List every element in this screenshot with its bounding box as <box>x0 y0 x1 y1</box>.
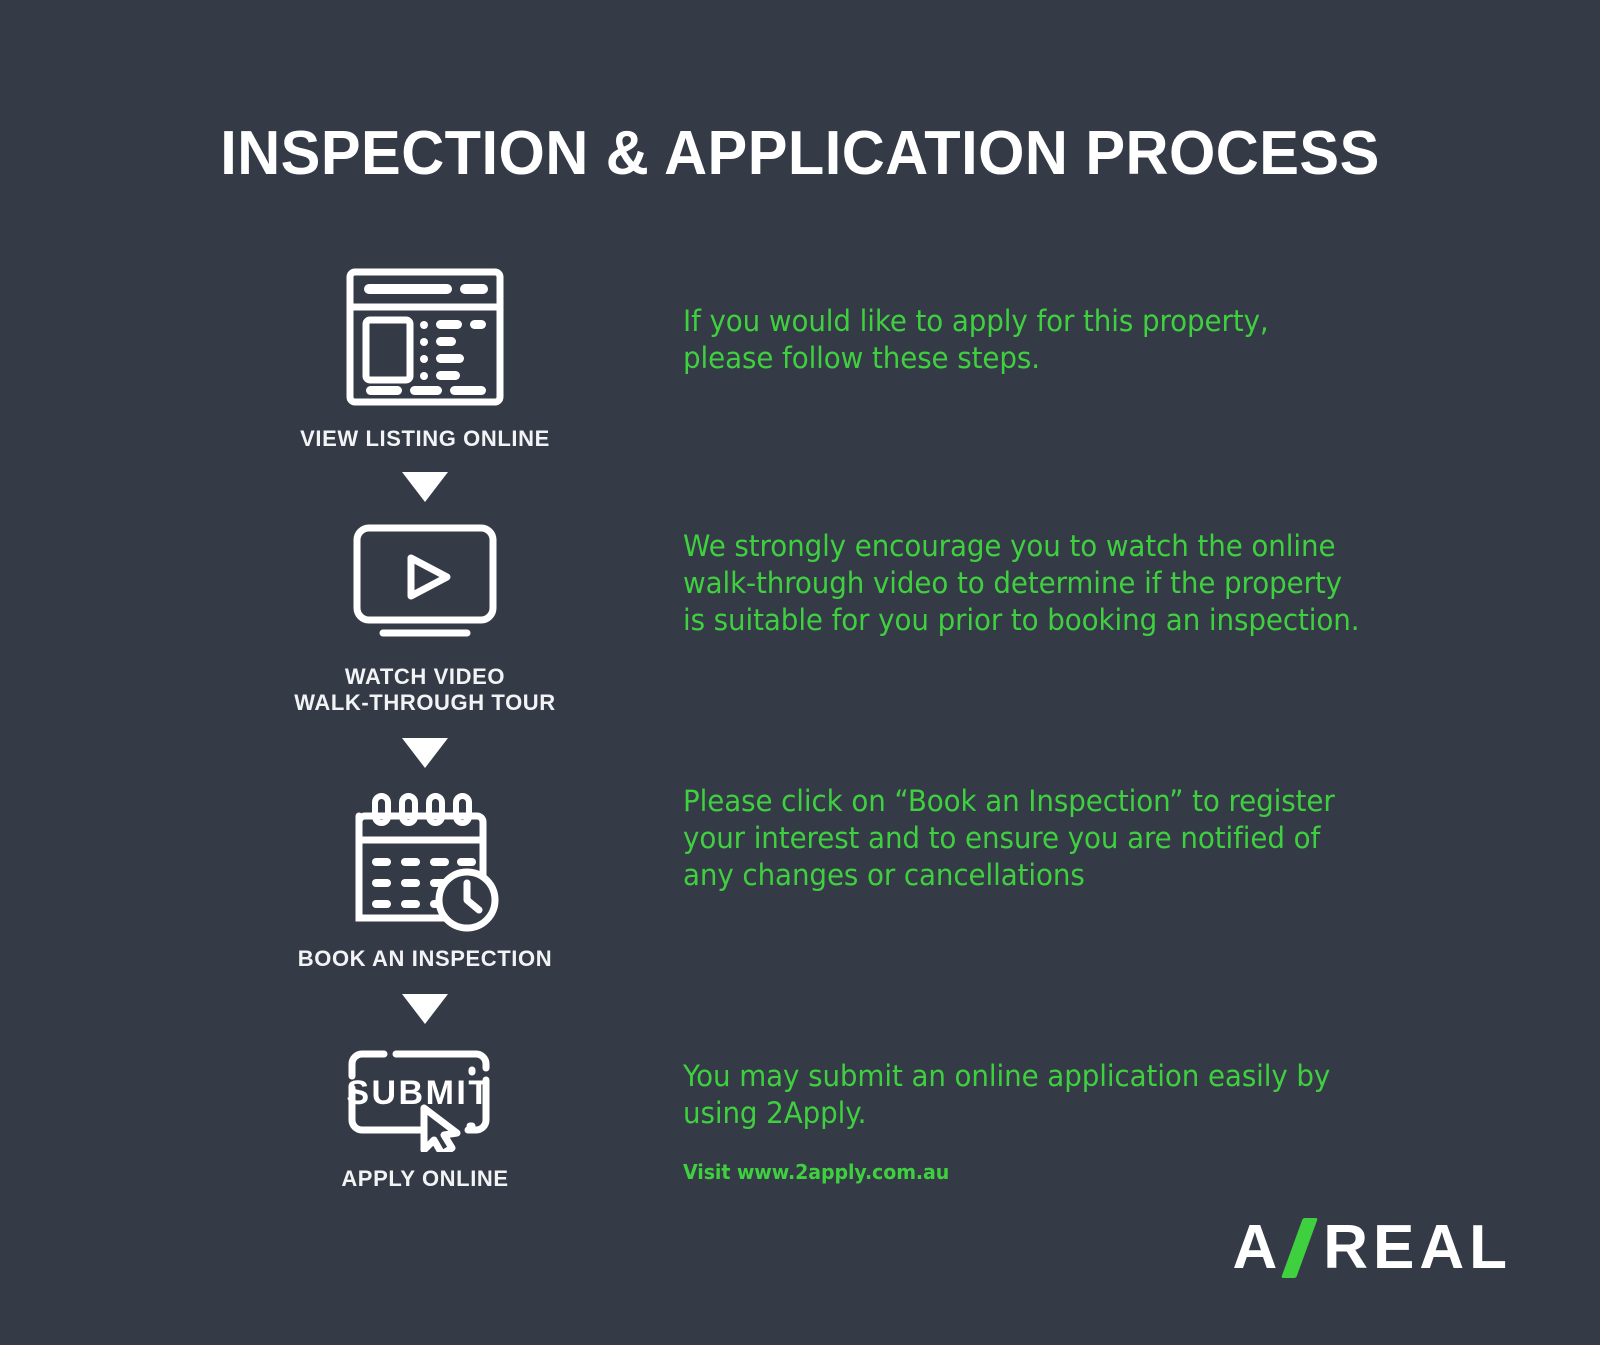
copy-watch-video: We strongly encourage you to watch the o… <box>683 528 1359 639</box>
step-label-view-listing-online: VIEW LISTING ONLINE <box>300 426 550 452</box>
logo-letter-a: A <box>1232 1217 1282 1279</box>
step-view-listing-online[interactable]: VIEW LISTING ONLINE <box>245 262 605 452</box>
steps-column: VIEW LISTING ONLINE WATCH VIDEO WALK-THR… <box>245 262 605 1192</box>
step-label-apply-online: APPLY ONLINE <box>341 1166 508 1192</box>
logo-word-real: REAL <box>1323 1217 1512 1279</box>
calendar-clock-icon <box>345 782 505 932</box>
step-watch-video[interactable]: WATCH VIDEO WALK-THROUGH TOUR <box>245 520 605 716</box>
copy-book-inspection: Please click on “Book an Inspection” to … <box>683 783 1335 894</box>
copy-intro: If you would like to apply for this prop… <box>683 303 1269 377</box>
brand-logo[interactable]: A REAL <box>1232 1219 1512 1277</box>
infographic-page: INSPECTION & APPLICATION PROCESS <box>0 0 1600 1345</box>
triangle-down-icon <box>402 738 448 768</box>
step-label-book-inspection: BOOK AN INSPECTION <box>298 946 552 972</box>
step-book-inspection[interactable]: BOOK AN INSPECTION <box>245 782 605 972</box>
step-label-watch-video: WATCH VIDEO WALK-THROUGH TOUR <box>294 664 556 716</box>
triangle-down-icon <box>402 994 448 1024</box>
submit-button-cursor-icon: SUBMIT <box>340 1042 510 1152</box>
triangle-down-icon <box>402 472 448 502</box>
step-apply-online[interactable]: SUBMIT APPLY ONLINE <box>245 1042 605 1192</box>
copy-apply-online: You may submit an online application eas… <box>683 1058 1330 1132</box>
submit-icon-text: SUBMIT <box>346 1074 491 1112</box>
video-play-monitor-icon <box>345 520 505 650</box>
green-slash-icon <box>1281 1218 1318 1278</box>
page-title: INSPECTION & APPLICATION PROCESS <box>32 118 1568 189</box>
browser-listing-icon <box>340 262 510 412</box>
visit-website-link[interactable]: Visit www.2apply.com.au <box>683 1160 949 1184</box>
